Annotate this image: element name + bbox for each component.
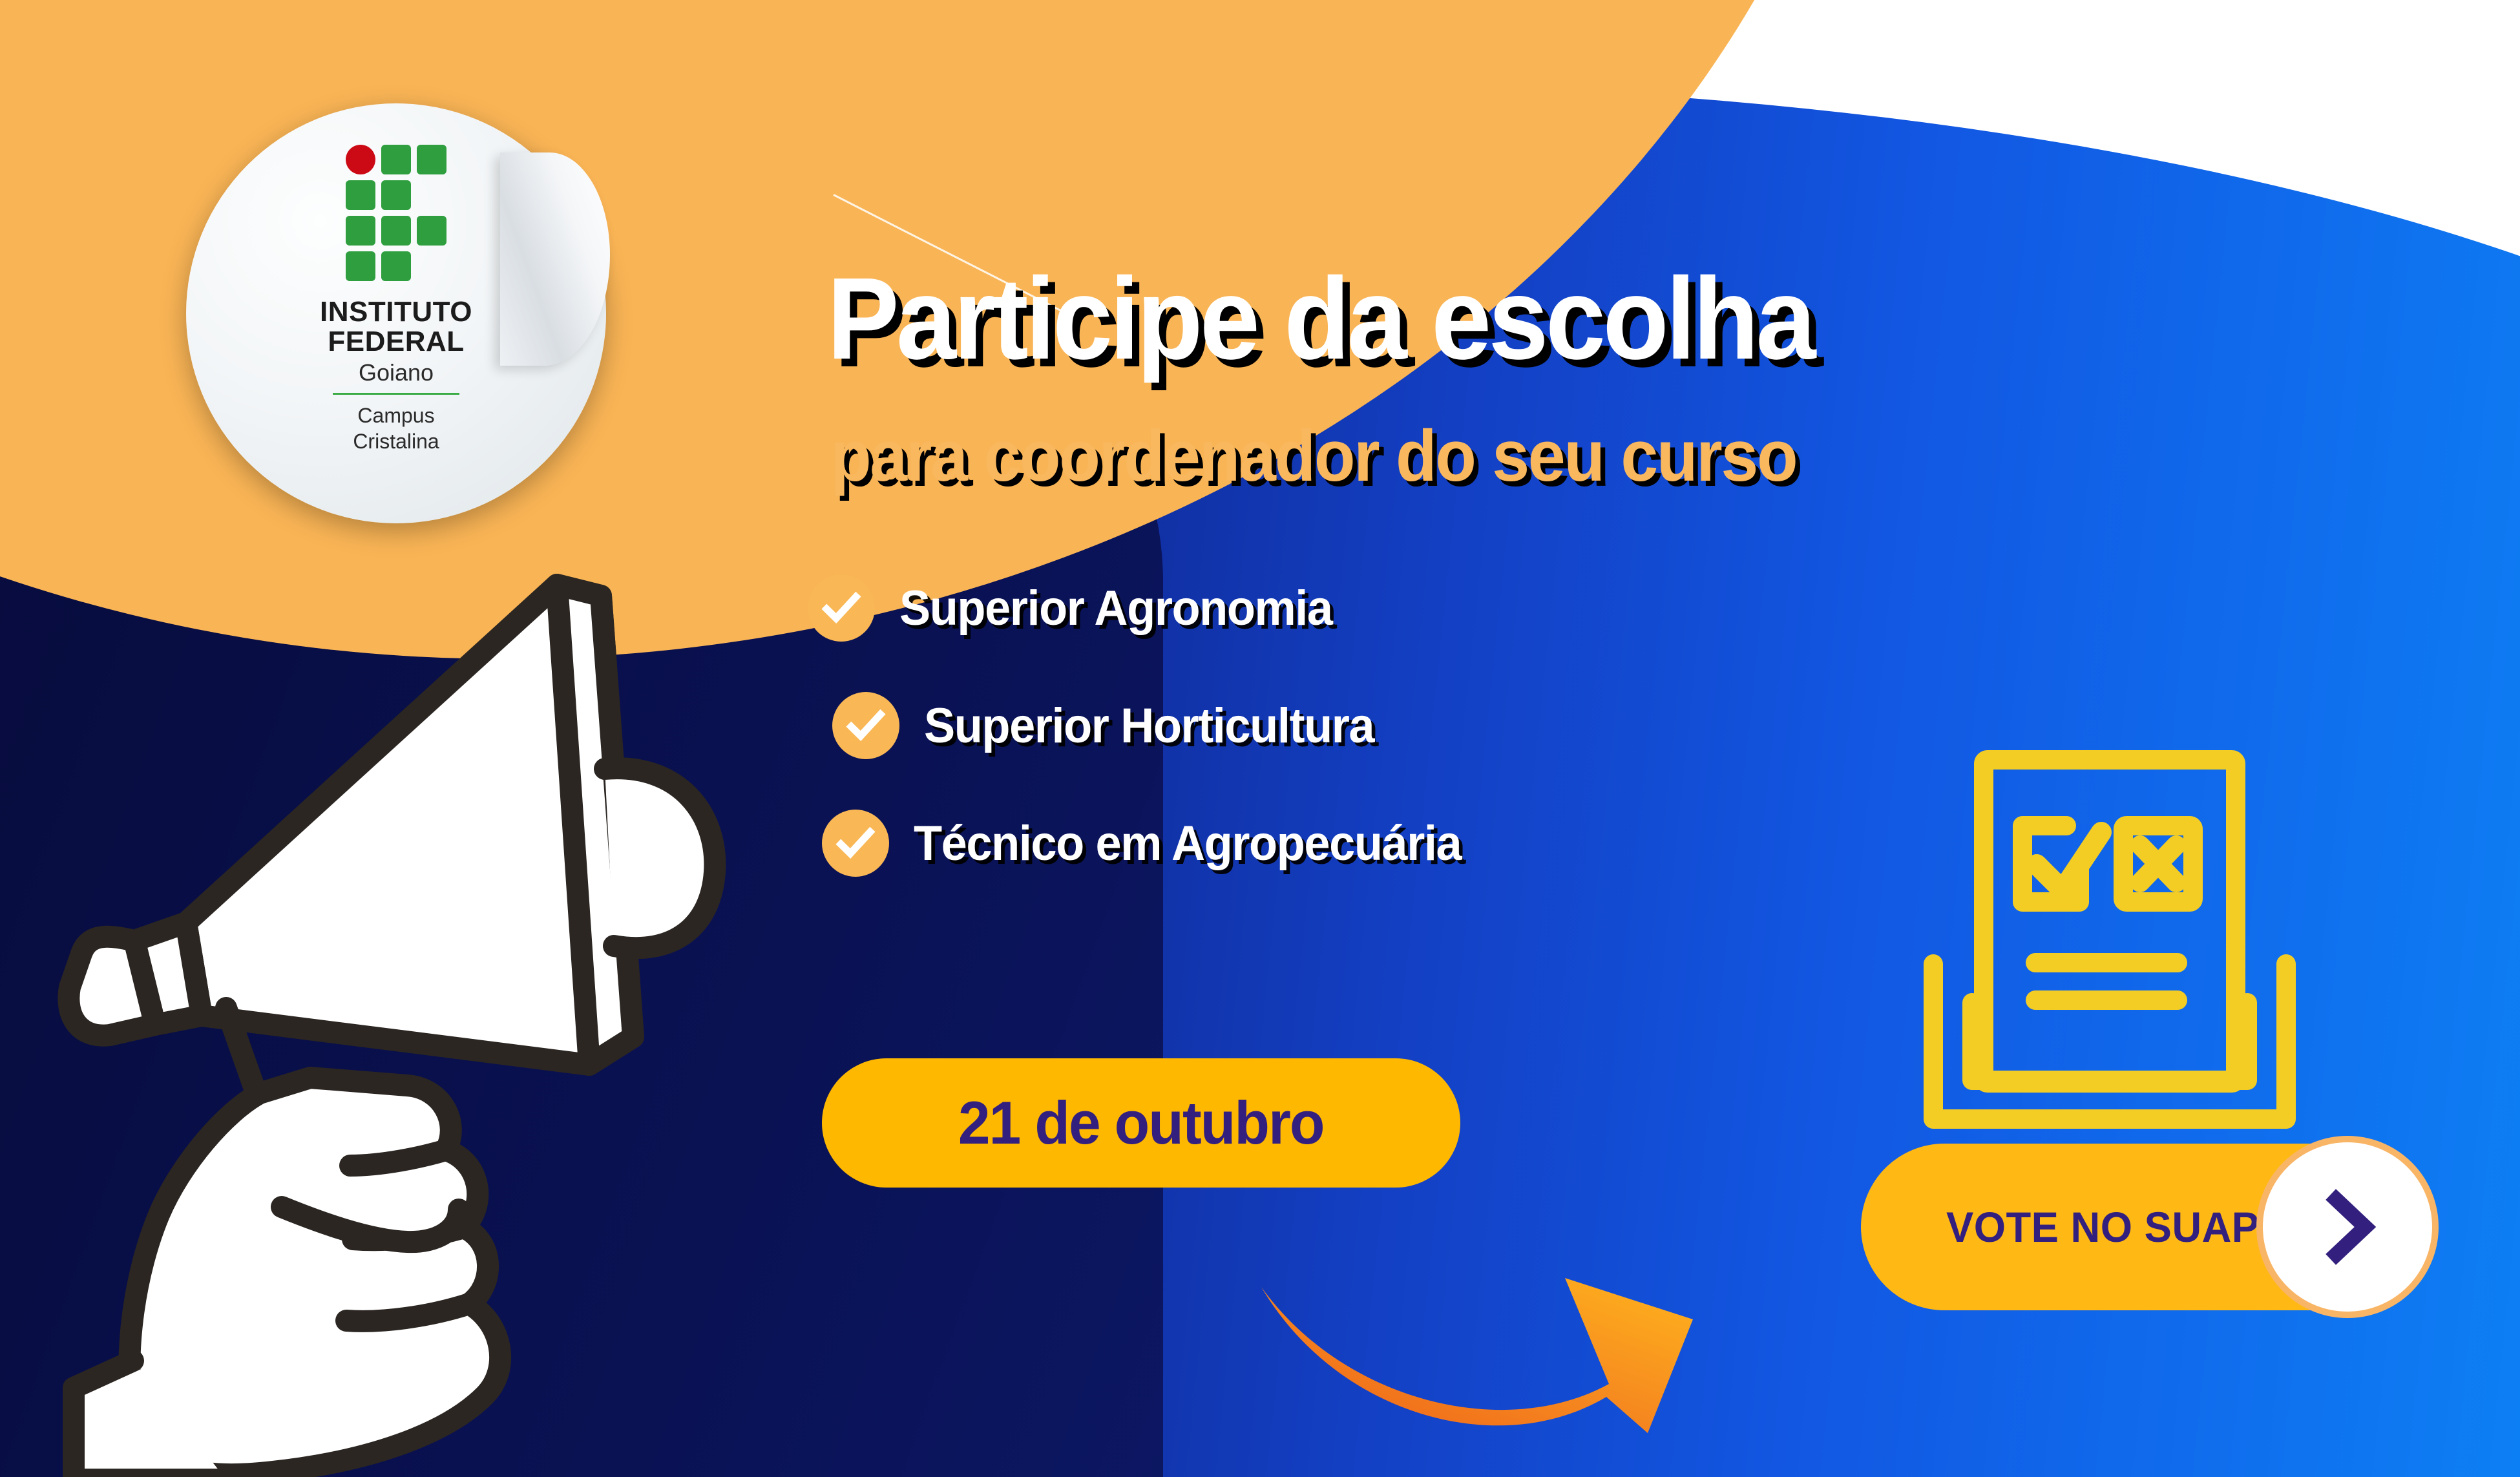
- ballot-box-icon: [1874, 749, 2346, 1150]
- curved-arrow-icon: [1247, 1247, 1751, 1441]
- event-banner: INSTITUTO FEDERAL Goiano Campus Cristali…: [0, 0, 2520, 1477]
- course-label: Superior Agronomia: [899, 580, 1332, 636]
- if-logo-mark: [346, 145, 446, 281]
- course-item-agropecuaria: Técnico em Agropecuária: [822, 784, 1490, 902]
- sticker-peel-curl: [500, 152, 610, 366]
- check-icon: [832, 692, 899, 759]
- check-icon: [822, 810, 889, 877]
- check-icon: [808, 574, 875, 642]
- if-cell-r2c3: [417, 180, 446, 210]
- course-label: Técnico em Agropecuária: [914, 815, 1461, 872]
- if-cell-r2c2: [381, 180, 411, 210]
- if-cell-r4c1: [346, 251, 375, 281]
- if-cell-r4c3: [417, 251, 446, 281]
- course-list: Superior Agronomia Superior Horticultura…: [808, 549, 1490, 902]
- if-cell-r4c2: [381, 251, 411, 281]
- logo-divider: [333, 393, 459, 395]
- course-item-horticultura: Superior Horticultura: [832, 667, 1490, 784]
- logo-state-name: Goiano: [359, 360, 434, 386]
- if-cell-r3c2: [381, 216, 411, 246]
- chevron-right-icon[interactable]: [2256, 1136, 2439, 1318]
- logo-institute-line1: INSTITUTO: [320, 298, 472, 326]
- headline-primary: Participe da escolha: [827, 262, 2185, 376]
- if-cell-r3c3: [417, 216, 446, 246]
- if-cell-r1c2: [381, 145, 411, 174]
- course-item-agronomia: Superior Agronomia: [808, 549, 1490, 667]
- if-cell-r3c1: [346, 216, 375, 246]
- logo-campus-line1: Campus: [357, 403, 434, 428]
- logo-campus-line2: Cristalina: [353, 428, 439, 454]
- if-cell-r2c1: [346, 180, 375, 210]
- if-cell-r1c1: [346, 145, 375, 174]
- institution-logo-sticker: INSTITUTO FEDERAL Goiano Campus Cristali…: [186, 103, 606, 523]
- if-cell-r1c3: [417, 145, 446, 174]
- vote-suap-button[interactable]: VOTE NO SUAP: [1861, 1144, 2430, 1310]
- event-date-label: 21 de outubro: [958, 1088, 1324, 1158]
- event-date-badge: 21 de outubro: [822, 1058, 1460, 1188]
- logo-institute-line2: FEDERAL: [328, 326, 464, 357]
- course-label: Superior Horticultura: [924, 698, 1374, 754]
- vote-suap-label: VOTE NO SUAP: [1946, 1202, 2260, 1252]
- headline-secondary: para coordenador do seu curso: [830, 420, 2225, 492]
- megaphone-icon: [32, 556, 795, 1477]
